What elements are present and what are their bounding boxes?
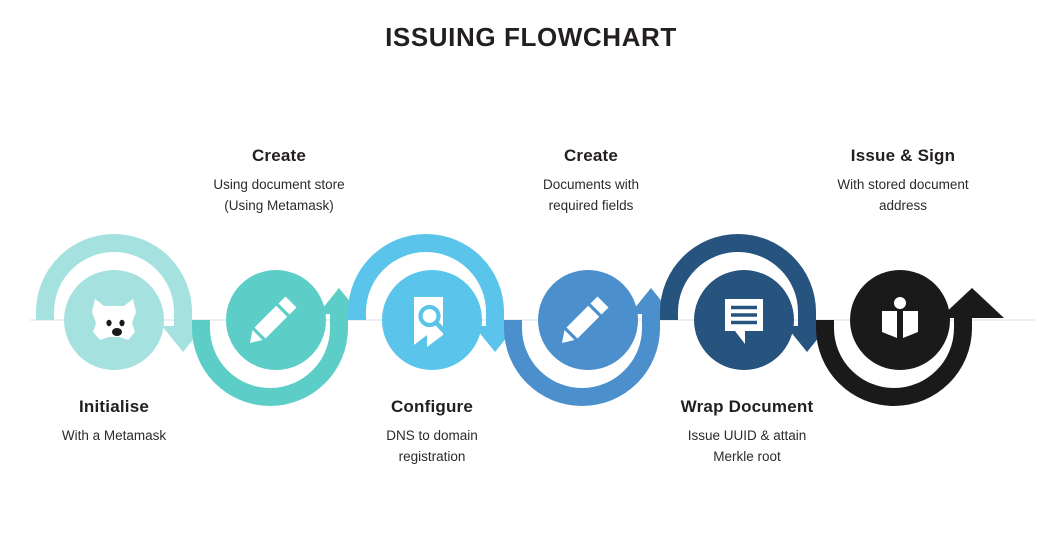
step-desc-wrap-document: Issue UUID & attain Merkle root [622, 426, 872, 468]
step-label-initialise: Initialise With a Metamask [0, 397, 239, 447]
step-node-issue-and-sign[interactable] [850, 270, 950, 370]
arrow-head-final [940, 288, 1004, 318]
step-desc-create-document-store: Using document store (Using Metamask) [154, 175, 404, 217]
step-node-initialise[interactable] [64, 270, 164, 370]
step-label-create-document-store: Create Using document store (Using Metam… [154, 146, 404, 217]
step-desc-initialise: With a Metamask [0, 426, 239, 447]
step-label-create-documents: Create Documents with required fields [466, 146, 716, 217]
step-title-issue-and-sign: Issue & Sign [778, 146, 1028, 166]
step-label-configure: Configure DNS to domain registration [307, 397, 557, 468]
node-circle-6 [850, 270, 950, 370]
step-node-create-documents[interactable] [538, 270, 638, 370]
step-desc-create-documents: Documents with required fields [466, 175, 716, 217]
step-title-create-document-store: Create [154, 146, 404, 166]
step-label-wrap-document: Wrap Document Issue UUID & attain Merkle… [622, 397, 872, 468]
step-node-create-document-store[interactable] [226, 270, 326, 370]
step-title-create-documents: Create [466, 146, 716, 166]
step-label-issue-and-sign: Issue & Sign With stored document addres… [778, 146, 1028, 217]
step-title-wrap-document: Wrap Document [622, 397, 872, 417]
step-desc-configure: DNS to domain registration [307, 426, 557, 468]
step-title-initialise: Initialise [0, 397, 239, 417]
step-title-configure: Configure [307, 397, 557, 417]
step-node-wrap-document[interactable] [694, 270, 794, 370]
step-node-configure[interactable] [382, 270, 482, 370]
step-desc-issue-and-sign: With stored document address [778, 175, 1028, 217]
